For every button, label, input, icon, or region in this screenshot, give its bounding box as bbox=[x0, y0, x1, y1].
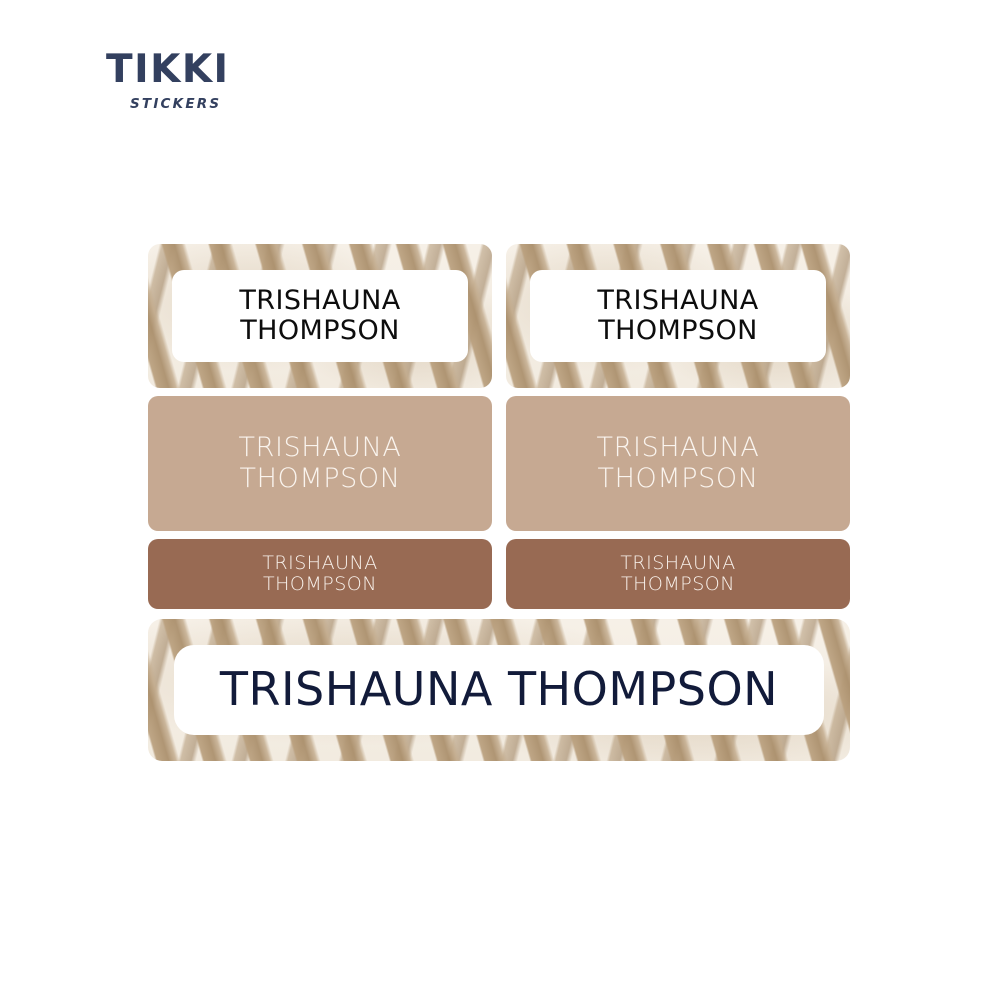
sticker-sheet: TRISHAUNA THOMPSON TRISHAUNA THOMPSON TR… bbox=[148, 244, 850, 761]
sticker-name-panel: TRISHAUNA THOMPSON bbox=[506, 396, 850, 531]
sticker-name-line1: TRISHAUNA bbox=[620, 552, 735, 574]
sticker-row1-left[interactable]: TRISHAUNA THOMPSON bbox=[148, 244, 492, 388]
sticker-name-line1: TRISHAUNA bbox=[239, 285, 400, 316]
sticker-name-text: TRISHAUNA THOMPSON bbox=[262, 553, 377, 596]
sticker-row3-right[interactable]: TRISHAUNA THOMPSON bbox=[506, 539, 850, 609]
sticker-row-2: TRISHAUNA THOMPSON TRISHAUNA THOMPSON bbox=[148, 396, 850, 531]
sticker-name-line1: TRISHAUNA bbox=[597, 432, 760, 463]
sticker-name-text: TRISHAUNA THOMPSON bbox=[239, 433, 402, 493]
sticker-name-line1: TRISHAUNA bbox=[597, 285, 758, 316]
sticker-name-text: TRISHAUNA THOMPSON bbox=[220, 664, 778, 716]
sticker-row-3: TRISHAUNA THOMPSON TRISHAUNA THOMPSON bbox=[148, 539, 850, 609]
sticker-name-line2: THOMPSON bbox=[597, 463, 758, 494]
sticker-row4-banner[interactable]: TRISHAUNA THOMPSON bbox=[148, 619, 850, 761]
sticker-name-line1: TRISHAUNA bbox=[239, 432, 402, 463]
sticker-name-text: TRISHAUNA THOMPSON bbox=[597, 286, 758, 346]
sticker-name-panel: TRISHAUNA THOMPSON bbox=[174, 645, 824, 735]
brand-logo: TIKKI STICKERS bbox=[106, 50, 366, 112]
sticker-name-panel: TRISHAUNA THOMPSON bbox=[530, 270, 826, 362]
sticker-name-text: TRISHAUNA THOMPSON bbox=[239, 286, 400, 346]
sticker-name-panel: TRISHAUNA THOMPSON bbox=[148, 396, 492, 531]
brand-name: TIKKI bbox=[106, 50, 366, 89]
sticker-name-line2: THOMPSON bbox=[621, 573, 735, 595]
sticker-name-line2: THOMPSON bbox=[598, 315, 757, 346]
sticker-name-panel: TRISHAUNA THOMPSON bbox=[148, 539, 492, 609]
sticker-name-panel: TRISHAUNA THOMPSON bbox=[506, 539, 850, 609]
sticker-row2-left[interactable]: TRISHAUNA THOMPSON bbox=[148, 396, 492, 531]
sticker-name-line1: TRISHAUNA bbox=[262, 552, 377, 574]
sticker-name-line2: THOMPSON bbox=[239, 463, 400, 494]
sticker-name-text: TRISHAUNA THOMPSON bbox=[620, 553, 735, 596]
sticker-name-panel: TRISHAUNA THOMPSON bbox=[172, 270, 468, 362]
sticker-row-4: TRISHAUNA THOMPSON bbox=[148, 619, 850, 761]
sticker-name-line2: THOMPSON bbox=[240, 315, 399, 346]
sticker-row2-right[interactable]: TRISHAUNA THOMPSON bbox=[506, 396, 850, 531]
sticker-row-1: TRISHAUNA THOMPSON TRISHAUNA THOMPSON bbox=[148, 244, 850, 388]
brand-tagline: STICKERS bbox=[130, 98, 366, 112]
sticker-name-text: TRISHAUNA THOMPSON bbox=[597, 433, 760, 493]
sticker-name-line2: THOMPSON bbox=[263, 573, 377, 595]
sticker-row1-right[interactable]: TRISHAUNA THOMPSON bbox=[506, 244, 850, 388]
sticker-row3-left[interactable]: TRISHAUNA THOMPSON bbox=[148, 539, 492, 609]
